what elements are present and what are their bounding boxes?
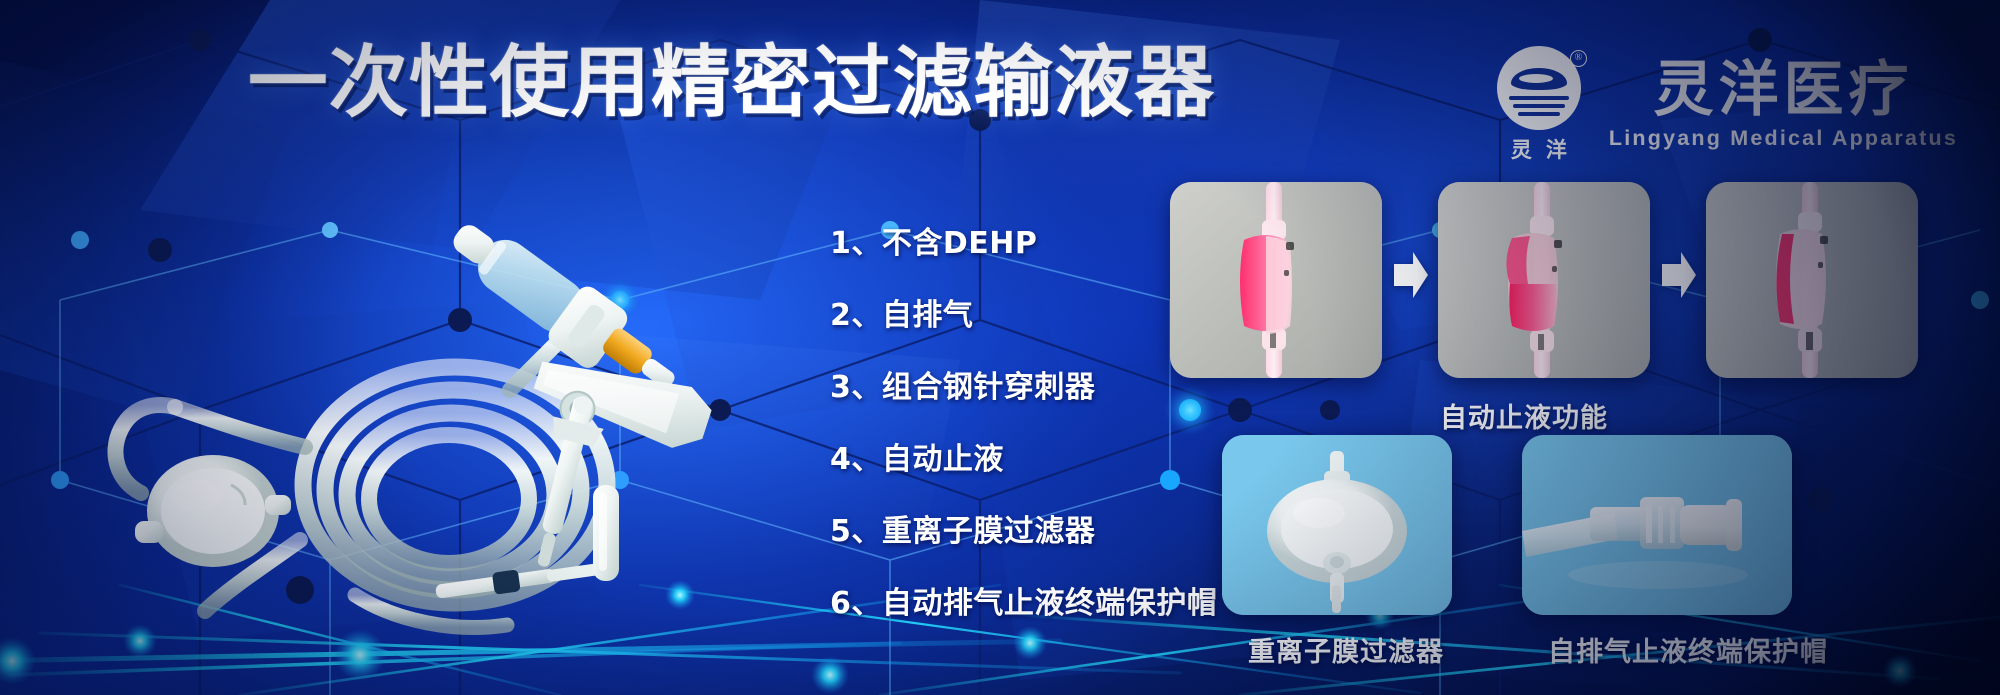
feature-item-4: 4、自动止液	[830, 434, 1217, 478]
sequence-photo-2	[1438, 182, 1650, 378]
brand-logo: ® 灵洋 灵洋医疗 Lingyang Medical Apparatus	[1491, 46, 1958, 164]
feature-item-3: 3、组合钢针穿刺器	[830, 362, 1217, 406]
wave-swimmer-icon	[1497, 46, 1581, 130]
logo-emblem-subtext: 灵洋	[1491, 134, 1587, 164]
sequence-caption: 自动止液功能	[1440, 396, 1608, 435]
logo-emblem: ® 灵洋	[1491, 46, 1587, 164]
infusion-set-illustration	[55, 185, 775, 645]
feature-item-1: 1、不含DEHP	[830, 218, 1217, 262]
detail-caption-cap: 自排气止液终端保护帽	[1548, 630, 1828, 669]
feature-list: 1、不含DEHP 2、自排气 3、组合钢针穿刺器 4、自动止液 5、重离子膜过滤…	[830, 218, 1217, 622]
feature-item-2: 2、自排气	[830, 290, 1217, 334]
sequence-photo-3	[1706, 182, 1918, 378]
page-title: 一次性使用精密过滤输液器	[248, 44, 1215, 122]
filter-empty-illustration	[1706, 182, 1918, 378]
brand-name-block: 灵洋医疗 Lingyang Medical Apparatus	[1609, 59, 1958, 151]
feature-item-6: 6、自动排气止液终端保护帽	[830, 578, 1217, 622]
registered-trademark-icon: ®	[1570, 50, 1587, 67]
main-product-photo	[55, 185, 775, 645]
filter-full-illustration	[1170, 182, 1382, 378]
feature-item-5: 5、重离子膜过滤器	[830, 506, 1217, 550]
terminal-cap-illustration	[1522, 435, 1792, 615]
sequence-photo-1	[1170, 182, 1382, 378]
brand-name-en: Lingyang Medical Apparatus	[1609, 126, 1958, 151]
detail-photo-cap	[1522, 435, 1792, 615]
membrane-filter-illustration	[1222, 435, 1452, 615]
detail-caption-filter: 重离子膜过滤器	[1248, 630, 1444, 669]
product-banner: 一次性使用精密过滤输液器 ® 灵洋 灵洋医疗 Lingyang Medical …	[0, 0, 2000, 695]
detail-photo-filter	[1222, 435, 1452, 615]
brand-name-cn: 灵洋医疗	[1653, 59, 1913, 122]
filter-half-illustration	[1438, 182, 1650, 378]
